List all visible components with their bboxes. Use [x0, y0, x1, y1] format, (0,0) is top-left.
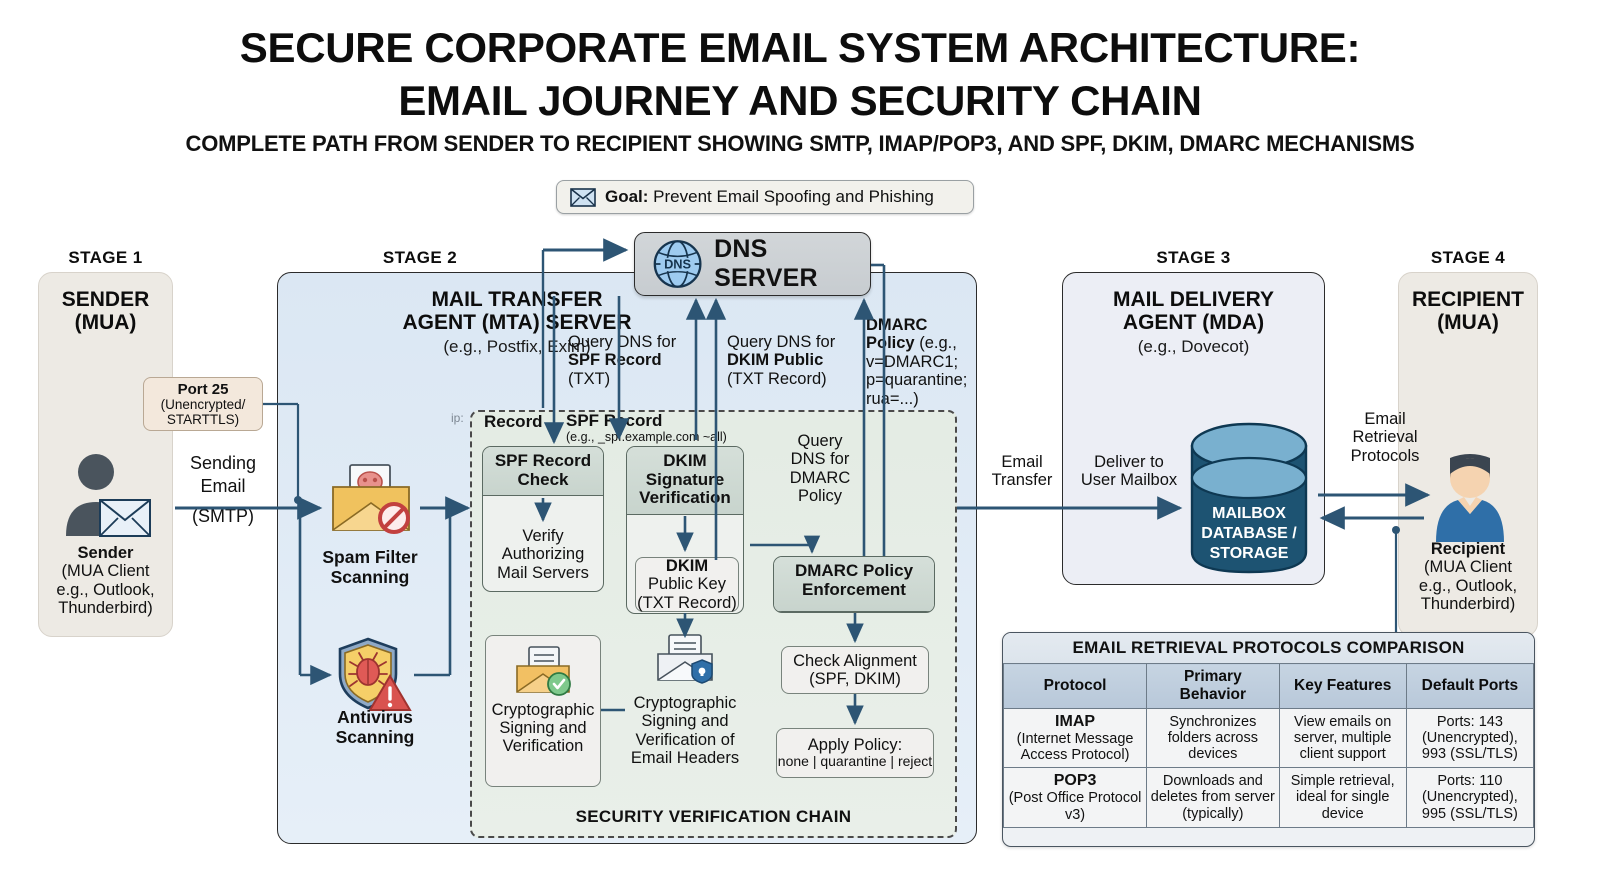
- cell-ports-imap: Ports: 143 (Unencrypted), 993 (SSL/TLS): [1406, 709, 1533, 768]
- stage-label-2: STAGE 2: [300, 248, 540, 268]
- sender-caption-l1: (MUA Client: [38, 562, 173, 580]
- query-spf-l1: Query DNS for: [568, 333, 676, 351]
- record-fragment-text: Record: [484, 412, 543, 431]
- dmarc-policy-l2: Policy: [866, 334, 915, 352]
- mta-heading-2: AGENT (MTA) SERVER: [277, 311, 757, 335]
- goal-text: Goal: Prevent Email Spoofing and Phishin…: [605, 187, 934, 207]
- recipient-heading-2: (MUA): [1398, 311, 1538, 335]
- dkim-key-bold: DKIM: [666, 557, 708, 575]
- sending-l2: Email: [168, 475, 278, 498]
- av-caption-l1: Antivirus: [310, 708, 440, 728]
- dmarc-card-head: DMARC Policy Enforcement: [774, 557, 934, 612]
- retrieval-l3: Protocols: [1335, 447, 1435, 465]
- query-spf-l3: (TXT): [568, 370, 676, 388]
- query-dkim-l2: DKIM Public: [727, 351, 835, 369]
- antivirus-caption: Antivirus Scanning: [310, 708, 440, 747]
- query-dmarc-l2: DNS for: [780, 450, 860, 468]
- svg-text:DNS: DNS: [664, 257, 691, 272]
- dkim-key-line-1: Public Key: [648, 575, 726, 593]
- spf-card-head: SPF Record Check: [483, 447, 603, 496]
- goal-body: Prevent Email Spoofing and Phishing: [648, 187, 933, 206]
- th-protocol: Protocol: [1004, 664, 1147, 709]
- diagram-canvas: SECURE CORPORATE EMAIL SYSTEM ARCHITECTU…: [0, 0, 1600, 893]
- apply-policy-line-2: none | quarantine | reject: [778, 754, 932, 769]
- crypto-left-line-2: Signing and: [492, 719, 595, 737]
- spf-verify-line-1: Verify: [482, 527, 604, 545]
- table-title: EMAIL RETRIEVAL PROTOCOLS COMPARISON: [1003, 633, 1534, 663]
- dkim-head-line-2: Signature: [629, 471, 741, 490]
- spam-filter-icon-wrap: [328, 462, 414, 541]
- ip-fragment-text: ip:: [451, 412, 464, 425]
- cell-behavior-imap: Synchronizes folders across devices: [1147, 709, 1280, 768]
- recipient-heading-1: RECIPIENT: [1398, 288, 1538, 312]
- query-dmarc-l3: DMARC: [780, 469, 860, 487]
- envelope-lock-icon: [653, 633, 717, 685]
- crypto-left-line-1: Cryptographic: [492, 701, 595, 719]
- crypto-signing-right-block: Cryptographic Signing and Verification o…: [620, 633, 750, 768]
- cell-ports-pop3: Ports: 110 (Unencrypted), 995 (SSL/TLS): [1406, 768, 1533, 827]
- stage-label-3: STAGE 3: [1062, 248, 1325, 268]
- recipient-caption: Recipient (MUA Client e.g., Outlook, Thu…: [1398, 540, 1538, 614]
- spam-envelope-icon: [328, 462, 414, 536]
- imap-sub: (Internet Message Access Protocol): [1017, 731, 1134, 763]
- spam-caption-l2: Scanning: [305, 568, 435, 588]
- dns-server-title: DNS SERVER: [714, 235, 870, 293]
- deliver-l2: User Mailbox: [1074, 471, 1184, 489]
- mda-heading-2: AGENT (MDA): [1062, 311, 1325, 335]
- svc-title: SECURITY VERIFICATION CHAIN: [472, 807, 955, 827]
- transfer-l1: Email: [983, 453, 1061, 471]
- dmarc-policy-l3: v=DMARC1;: [866, 353, 966, 371]
- dmarc-policy-label: DMARC Policy (e.g., v=DMARC1; p=quaranti…: [866, 316, 966, 408]
- sending-l3: (SMTP): [168, 505, 278, 528]
- table-row: IMAP (Internet Message Access Protocol) …: [1004, 709, 1534, 768]
- svg-text:DATABASE /: DATABASE /: [1201, 525, 1297, 542]
- spf-head-line-1: SPF Record: [485, 452, 601, 471]
- spf-record-label: SPF Record: [566, 411, 662, 430]
- sender-avatar: [56, 448, 156, 549]
- cell-protocol-imap: IMAP (Internet Message Access Protocol): [1004, 709, 1147, 768]
- mda-subheading: (e.g., Dovecot): [1062, 337, 1325, 357]
- port-25-badge: Port 25 (Unencrypted/ STARTTLS): [143, 377, 263, 431]
- globe-dns-icon: DNS: [651, 236, 704, 292]
- sending-l1: Sending: [168, 452, 278, 475]
- svg-text:MAILBOX: MAILBOX: [1212, 505, 1286, 522]
- table-row: POP3 (Post Office Protocol v3) Downloads…: [1004, 768, 1534, 827]
- cell-features-pop3: Simple retrieval, ideal for single devic…: [1279, 768, 1406, 827]
- deliver-l1: Deliver to: [1074, 453, 1184, 471]
- dns-server-node[interactable]: DNS DNS SERVER: [634, 232, 871, 296]
- crypto-left-line-3: Verification: [492, 737, 595, 755]
- recipient-caption-l3: Thunderbird): [1398, 595, 1538, 613]
- apply-policy-subcard[interactable]: Apply Policy: none | quarantine | reject: [776, 728, 934, 778]
- retrieval-l2: Retrieval: [1335, 428, 1435, 446]
- goal-label: Goal:: [605, 187, 648, 206]
- th-behavior: Primary Behavior: [1147, 664, 1280, 709]
- sender-heading-1: SENDER: [38, 288, 173, 312]
- protocols-comparison-table: EMAIL RETRIEVAL PROTOCOLS COMPARISON Pro…: [1002, 632, 1535, 847]
- query-spf-l2: SPF Record: [568, 351, 676, 369]
- crypto-right-text: Cryptographic Signing and Verification o…: [620, 694, 750, 768]
- sender-caption-l2: e.g., Outlook,: [38, 581, 173, 599]
- spam-filter-caption: Spam Filter Scanning: [305, 548, 435, 587]
- svg-text:STORAGE: STORAGE: [1210, 545, 1289, 562]
- apply-policy-line-1: Apply Policy:: [808, 736, 902, 754]
- pop3-name: POP3: [1007, 772, 1143, 790]
- crypto-signing-left-card[interactable]: Cryptographic Signing and Verification: [485, 635, 601, 787]
- query-dmarc-l4: Policy: [780, 487, 860, 505]
- envelope-icon: [570, 188, 596, 207]
- transfer-l2: Transfer: [983, 471, 1061, 489]
- sender-caption: Sender (MUA Client e.g., Outlook, Thunde…: [38, 544, 173, 618]
- check-alignment-subcard[interactable]: Check Alignment (SPF, DKIM): [781, 646, 929, 694]
- query-dkim-label: Query DNS for DKIM Public (TXT Record): [727, 333, 835, 388]
- dkim-public-key-subcard[interactable]: DKIM Public Key (TXT Record): [635, 557, 739, 612]
- page-title-line-2: EMAIL JOURNEY AND SECURITY CHAIN: [0, 77, 1600, 125]
- deliver-mailbox-label: Deliver to User Mailbox: [1074, 453, 1184, 490]
- shield-bug-icon: [334, 636, 414, 714]
- dmarc-head-line-1: DMARC Policy: [776, 562, 932, 581]
- spf-record-example: (e.g., _spf.example.com ~all): [566, 430, 727, 444]
- check-alignment-line-2: (SPF, DKIM): [809, 670, 901, 688]
- query-dmarc-l1: Query: [780, 432, 860, 450]
- query-dmarc-label: Query DNS for DMARC Policy: [780, 432, 860, 506]
- sending-email-label: Sending Email (SMTP): [168, 452, 278, 528]
- table-header-row: Protocol Primary Behavior Key Features D…: [1004, 664, 1534, 709]
- page-title-line-1: SECURE CORPORATE EMAIL SYSTEM ARCHITECTU…: [0, 24, 1600, 72]
- stage-label-1: STAGE 1: [38, 248, 173, 268]
- email-transfer-label: Email Transfer: [983, 453, 1061, 490]
- port-badge-line-3: STARTTLS): [144, 413, 262, 428]
- spam-caption-l1: Spam Filter: [305, 548, 435, 568]
- recipient-caption-bold: Recipient: [1398, 540, 1538, 558]
- stage-label-4: STAGE 4: [1398, 248, 1538, 268]
- goal-badge: Goal: Prevent Email Spoofing and Phishin…: [556, 180, 974, 214]
- query-dkim-l3: (TXT Record): [727, 370, 835, 388]
- dmarc-head-line-2: Enforcement: [776, 581, 932, 600]
- imap-name: IMAP: [1007, 713, 1143, 731]
- retrieval-l1: Email: [1335, 410, 1435, 428]
- dkim-head-line-3: Verification: [629, 489, 741, 508]
- av-caption-l2: Scanning: [310, 728, 440, 748]
- pop3-sub: (Post Office Protocol v3): [1009, 790, 1142, 822]
- crypto-left-text: Cryptographic Signing and Verification: [492, 701, 595, 755]
- mailbox-database: MAILBOX DATABASE / STORAGE: [1184, 420, 1314, 585]
- cell-features-imap: View emails on server, multiple client s…: [1279, 709, 1406, 768]
- person-avatar-icon: [1428, 452, 1512, 544]
- cell-behavior-pop3: Downloads and deletes from server (typic…: [1147, 768, 1280, 827]
- person-envelope-icon: [56, 448, 156, 544]
- dmarc-policy-l4: p=quarantine;: [866, 371, 966, 389]
- check-alignment-line-1: Check Alignment: [793, 652, 917, 670]
- mta-subheading: (e.g., Postfix, Exim): [277, 337, 757, 357]
- port-badge-line-2: (Unencrypted/: [144, 398, 262, 413]
- dkim-head-line-1: DKIM: [629, 452, 741, 471]
- dkim-card-head: DKIM Signature Verification: [627, 447, 743, 515]
- comparison-table: Protocol Primary Behavior Key Features D…: [1003, 663, 1534, 828]
- query-dkim-l1: Query DNS for: [727, 333, 835, 351]
- recipient-avatar: [1428, 452, 1512, 549]
- th-ports: Default Ports: [1406, 664, 1533, 709]
- mda-heading-1: MAIL DELIVERY: [1062, 288, 1325, 312]
- dmarc-policy-l5: rua=...): [866, 390, 966, 408]
- th-features: Key Features: [1279, 664, 1406, 709]
- dmarc-policy-l2b: (e.g.,: [915, 334, 957, 352]
- sender-caption-l3: Thunderbird): [38, 599, 173, 617]
- dmarc-policy-l1: DMARC: [866, 316, 966, 334]
- recipient-caption-l1: (MUA Client: [1398, 558, 1538, 576]
- envelope-check-icon: [511, 644, 575, 696]
- crypto-right-line-4: Email Headers: [620, 749, 750, 767]
- sender-caption-bold: Sender: [38, 544, 173, 562]
- dkim-key-line-2: (TXT Record): [637, 594, 737, 612]
- spf-verify-line-3: Mail Servers: [482, 564, 604, 582]
- query-spf-label: Query DNS for SPF Record (TXT): [568, 333, 676, 388]
- dmarc-policy-card[interactable]: DMARC Policy Enforcement: [773, 556, 935, 613]
- crypto-right-line-1: Cryptographic: [620, 694, 750, 712]
- crypto-right-line-3: Verification of: [620, 731, 750, 749]
- page-subtitle: COMPLETE PATH FROM SENDER TO RECIPIENT S…: [0, 131, 1600, 157]
- spf-verify-line-2: Authorizing: [482, 545, 604, 563]
- database-cylinder-icon: MAILBOX DATABASE / STORAGE: [1184, 420, 1314, 580]
- spf-head-line-2: Check: [485, 471, 601, 490]
- dmarc-policy-l2-wrap: Policy (e.g.,: [866, 334, 966, 352]
- cell-protocol-pop3: POP3 (Post Office Protocol v3): [1004, 768, 1147, 827]
- port-badge-line-1: Port 25: [144, 382, 262, 398]
- sender-heading-2: (MUA): [38, 311, 173, 335]
- crypto-right-line-2: Signing and: [620, 712, 750, 730]
- retrieval-protocols-label: Email Retrieval Protocols: [1335, 410, 1435, 465]
- recipient-caption-l2: e.g., Outlook,: [1398, 577, 1538, 595]
- spf-verify-text: Verify Authorizing Mail Servers: [482, 527, 604, 582]
